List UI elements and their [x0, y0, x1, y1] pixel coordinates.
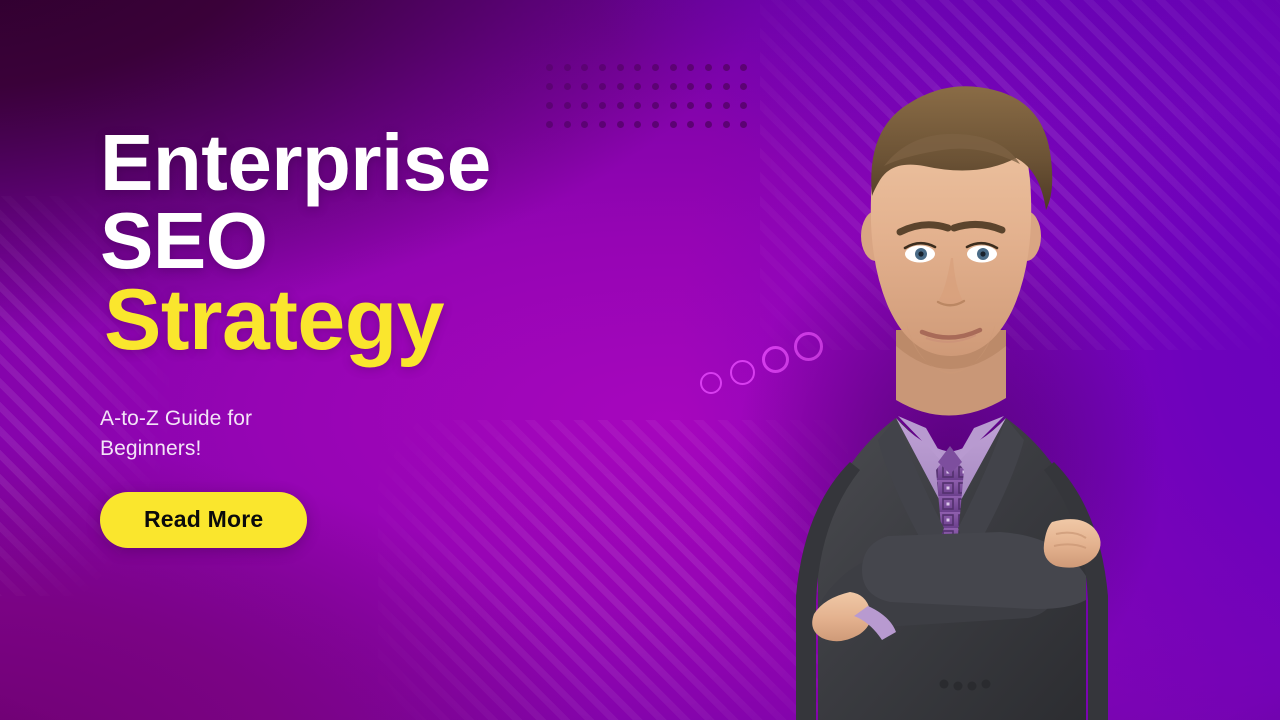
- headline-line-2: SEO: [100, 204, 720, 278]
- headline-line-1: Enterprise: [100, 126, 720, 200]
- page-title: Enterprise SEO Strategy: [100, 126, 720, 360]
- banner-content: Enterprise SEO Strategy A-to-Z Guide for…: [100, 126, 720, 548]
- banner-subtitle: A-to-Z Guide for Beginners!: [100, 404, 340, 464]
- promo-banner: Enterprise SEO Strategy A-to-Z Guide for…: [0, 0, 1280, 720]
- read-more-button[interactable]: Read More: [100, 492, 307, 548]
- headline-line-3-accent: Strategy: [104, 281, 720, 360]
